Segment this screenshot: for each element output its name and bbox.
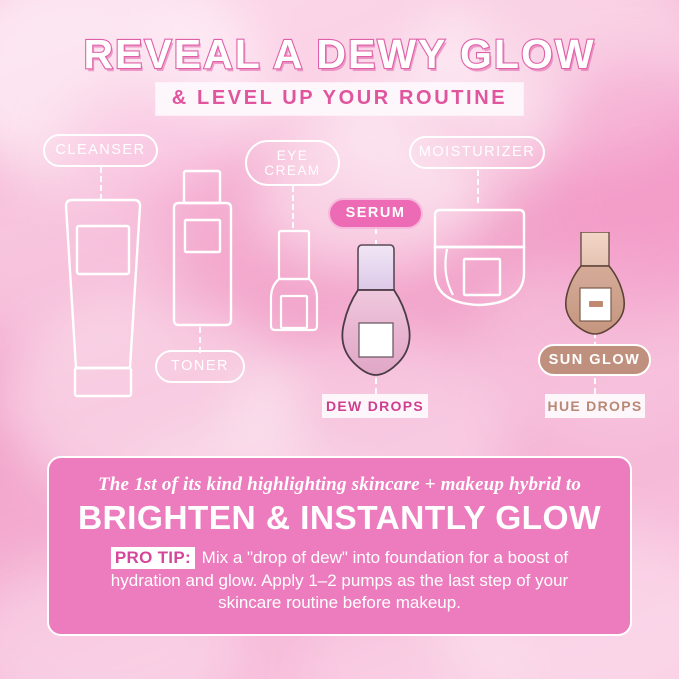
infographic-canvas: REVEAL A DEWY GLOW & LEVEL UP YOUR ROUTI… bbox=[0, 0, 679, 679]
page-title: REVEAL A DEWY GLOW bbox=[0, 31, 679, 78]
connector-eye-cream bbox=[292, 186, 294, 228]
info-panel: The 1st of its kind highlighting skincar… bbox=[47, 456, 632, 636]
product-label-dew-drops[interactable]: DEW DROPS bbox=[322, 394, 428, 418]
cleanser-tube-illustration bbox=[48, 196, 158, 401]
serum-bottle-illustration bbox=[336, 243, 416, 383]
connector-hue-drops bbox=[594, 378, 596, 394]
step-label-cleanser[interactable]: CLEANSER bbox=[43, 134, 158, 167]
step-label-moisturizer[interactable]: MOISTURIZER bbox=[409, 136, 545, 169]
step-label-toner[interactable]: TONER bbox=[155, 350, 245, 383]
panel-pro-tip: PRO TIP: Mix a "drop of dew" into founda… bbox=[80, 547, 600, 615]
page-subtitle: & LEVEL UP YOUR ROUTINE bbox=[156, 83, 523, 115]
connector-moisturizer bbox=[477, 170, 479, 203]
sun-glow-bottle-illustration bbox=[557, 232, 633, 340]
panel-tagline: The 1st of its kind highlighting skincar… bbox=[98, 474, 581, 496]
subtitle-banner: & LEVEL UP YOUR ROUTINE bbox=[0, 83, 679, 115]
pro-tip-badge: PRO TIP: bbox=[111, 547, 195, 569]
step-label-eye-cream[interactable]: EYE CREAM bbox=[245, 140, 340, 186]
toner-bottle-illustration bbox=[165, 168, 240, 328]
step-label-sun-glow[interactable]: SUN GLOW bbox=[538, 344, 651, 376]
moisturizer-jar-illustration bbox=[427, 203, 532, 313]
product-label-hue-drops[interactable]: HUE DROPS bbox=[545, 394, 645, 418]
eye-cream-bottle-illustration bbox=[265, 228, 323, 333]
step-label-serum[interactable]: SERUM bbox=[328, 198, 423, 229]
panel-headline: BRIGHTEN & INSTANTLY GLOW bbox=[78, 500, 601, 538]
